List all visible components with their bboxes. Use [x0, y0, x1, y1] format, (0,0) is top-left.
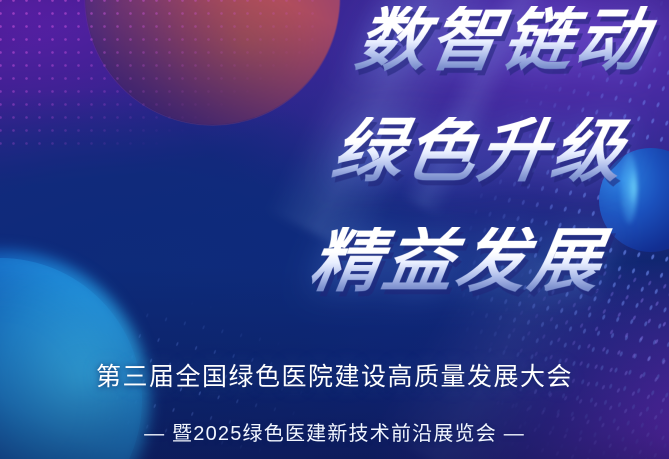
exhibition-subtitle: — 暨2025绿色医建新技术前沿展览会 — [0, 417, 669, 446]
conference-title: 第三届全国绿色医院建设高质量发展大会 [0, 357, 669, 393]
headline-block: 数智链动 绿色升级 精益发展 [0, 6, 659, 296]
conference-poster: 数智链动 绿色升级 精益发展 第三届全国绿色医院建设高质量发展大会 — 暨202… [0, 0, 669, 459]
headline-line-1: 数智链动 [0, 6, 664, 75]
headline-line-3: 精益发展 [0, 227, 664, 296]
headline-line-2: 绿色升级 [0, 117, 664, 186]
